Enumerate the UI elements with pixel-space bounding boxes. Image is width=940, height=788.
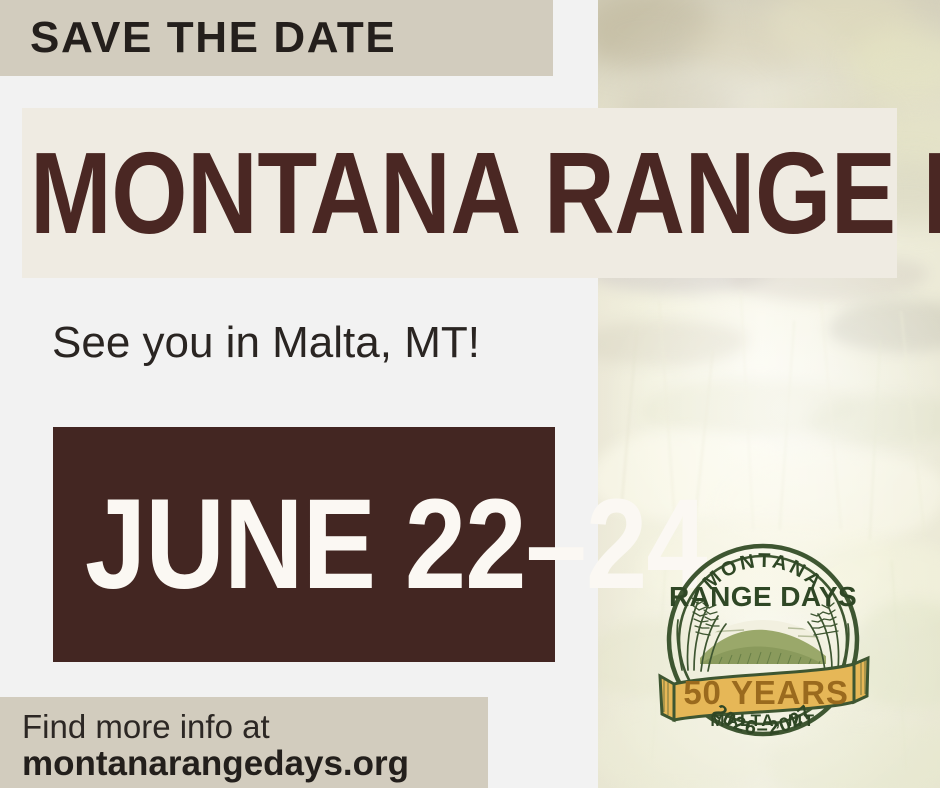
subtitle-text: See you in Malta, MT! [52,318,480,368]
range-days-badge-icon: MONTANA RANGE DAYS 50 YEARS MALTA, MT [648,524,878,756]
eyebrow-text: SAVE THE DATE [30,13,396,63]
save-the-date-poster: SAVE THE DATE MONTANA RANGE DAYS See you… [0,0,940,788]
hill-illustration [688,614,838,674]
save-the-date-band: SAVE THE DATE [0,0,553,76]
footer-website[interactable]: montanarangedays.org [22,744,409,784]
event-date-text: JUNE 22–24 [85,481,707,609]
footer-band: Find more info at montanarangedays.org [0,697,488,788]
footer-prompt: Find more info at [22,708,270,746]
logo-banner-text: 50 YEARS [683,674,848,711]
logo-range-days: RANGE DAYS [669,581,857,612]
event-date-block: JUNE 22–24 [53,427,555,662]
page-title: MONTANA RANGE DAYS [30,118,791,268]
